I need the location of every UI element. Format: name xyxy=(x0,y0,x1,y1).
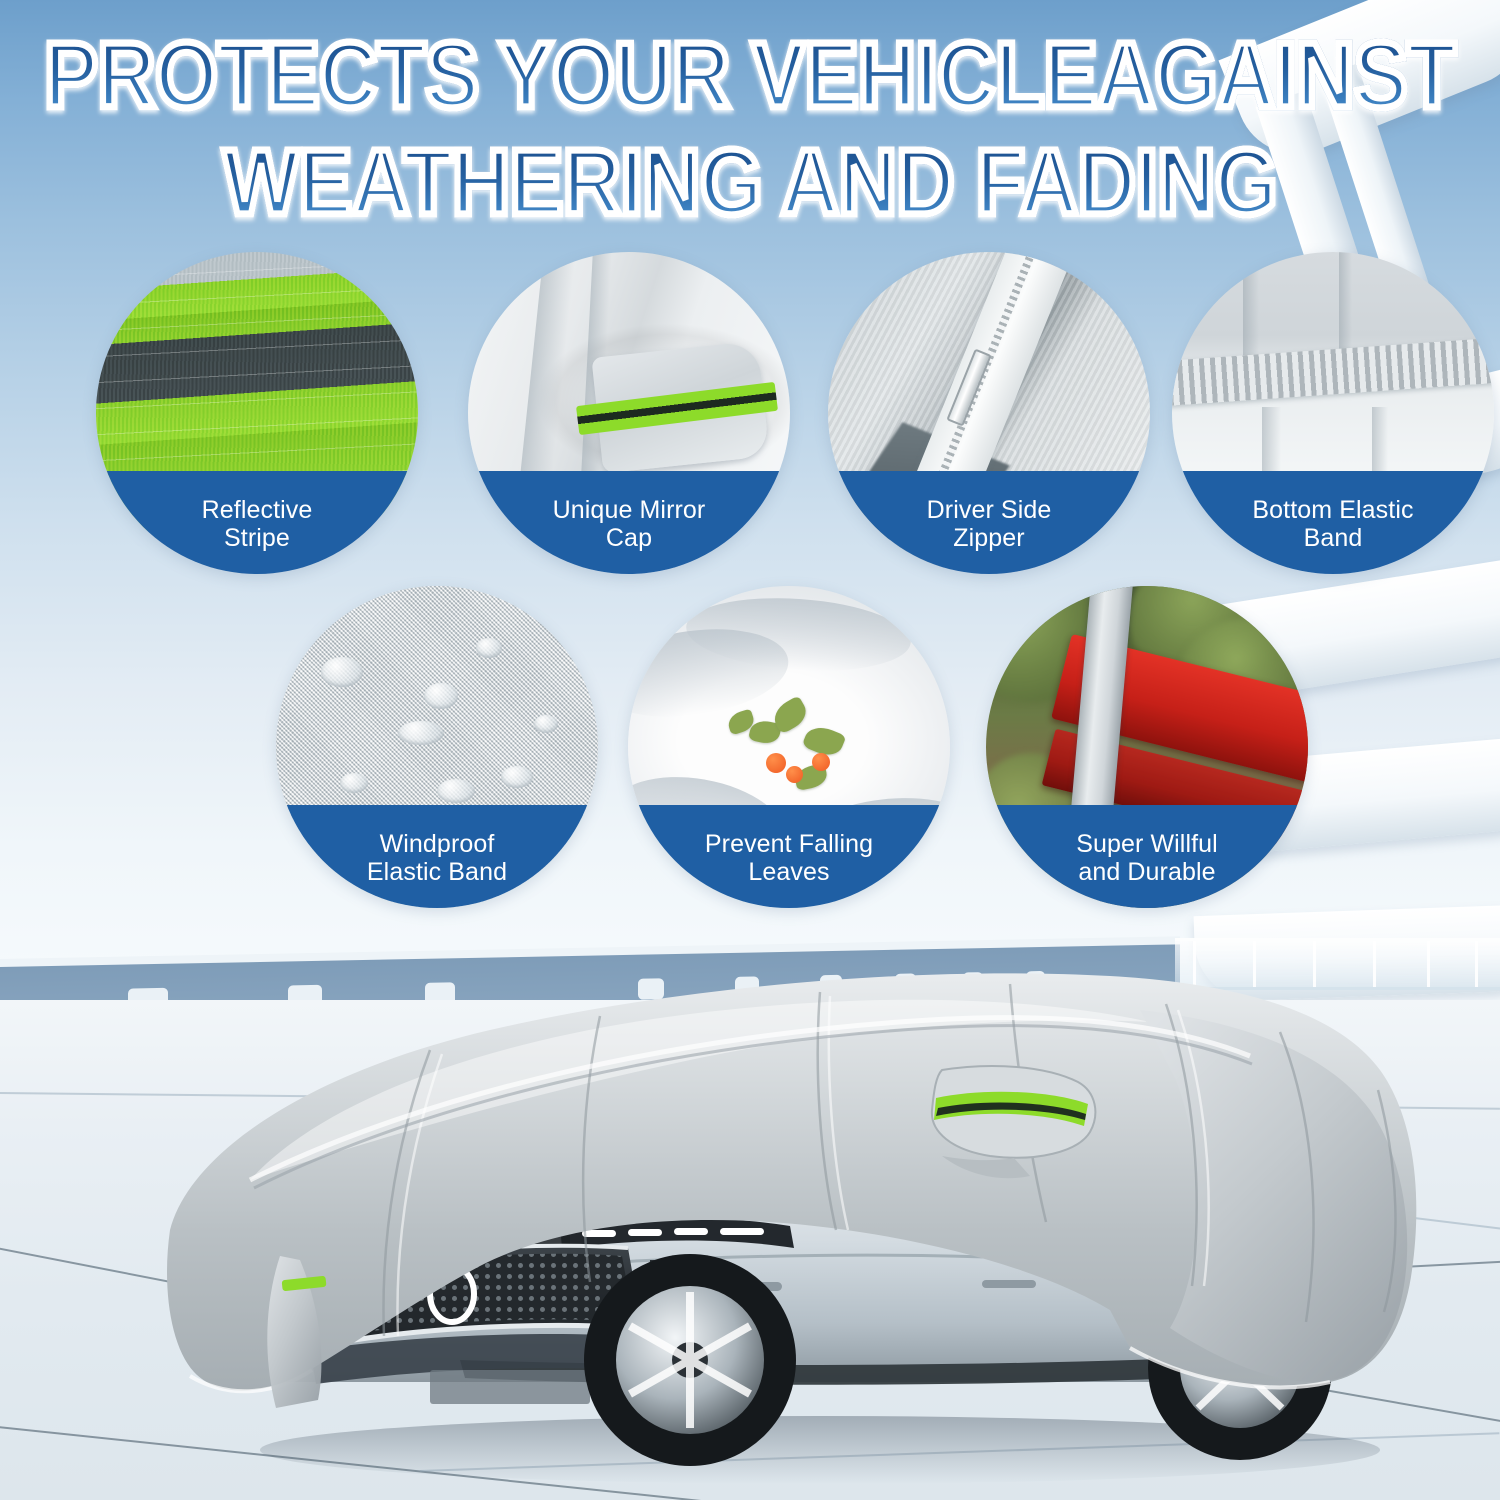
feature-windproof-elastic-band[interactable]: Windproof Elastic Band xyxy=(276,586,598,908)
feature-label-line-2: Cap xyxy=(606,524,652,553)
headline-line-2: WEATHERING AND FADING xyxy=(0,141,1500,227)
feature-label-line-1: Windproof xyxy=(380,830,495,859)
headline-line-1: PROTECTS YOUR VEHICLEAGAINST xyxy=(0,34,1500,120)
feature-prevent-falling-leaves[interactable]: Prevent Falling Leaves xyxy=(628,586,950,908)
feature-label-line-2: Zipper xyxy=(953,524,1024,553)
hero-covered-car xyxy=(130,930,1450,1490)
feature-label-line-2: Stripe xyxy=(224,524,290,553)
page-title: PROTECTS YOUR VEHICLEAGAINST WEATHERING … xyxy=(0,34,1500,211)
feature-label-line-1: Unique Mirror xyxy=(553,496,706,525)
feature-label-line-2: Leaves xyxy=(748,858,829,887)
covered-car-illustration xyxy=(130,930,1450,1490)
feature-label-line-2: and Durable xyxy=(1078,858,1215,887)
feature-label-windproof-elastic-band: Windproof Elastic Band xyxy=(276,805,598,908)
feature-label-line-1: Bottom Elastic xyxy=(1252,496,1413,525)
feature-label-line-1: Reflective xyxy=(202,496,313,525)
feature-label-super-willful-and-durable: Super Willful and Durable xyxy=(986,805,1308,908)
feature-driver-side-zipper[interactable]: Driver Side Zipper xyxy=(828,252,1150,574)
feature-label-line-1: Driver Side xyxy=(927,496,1052,525)
front-wheel xyxy=(584,1254,796,1466)
feature-label-reflective-stripe: Reflective Stripe xyxy=(96,471,418,574)
feature-bottom-elastic-band[interactable]: Bottom Elastic Band xyxy=(1172,252,1494,574)
feature-label-line-2: Band xyxy=(1304,524,1363,553)
feature-super-willful-and-durable[interactable]: Super Willful and Durable xyxy=(986,586,1308,908)
feature-unique-mirror-cap[interactable]: Unique Mirror Cap xyxy=(468,252,790,574)
feature-label-line-1: Super Willful xyxy=(1076,830,1218,859)
feature-label-unique-mirror-cap: Unique Mirror Cap xyxy=(468,471,790,574)
feature-label-driver-side-zipper: Driver Side Zipper xyxy=(828,471,1150,574)
feature-label-line-2: Elastic Band xyxy=(367,858,507,887)
feature-reflective-stripe[interactable]: Reflective Stripe xyxy=(96,252,418,574)
feature-label-bottom-elastic-band: Bottom Elastic Band xyxy=(1172,471,1494,574)
feature-label-prevent-falling-leaves: Prevent Falling Leaves xyxy=(628,805,950,908)
feature-label-line-1: Prevent Falling xyxy=(705,830,873,859)
